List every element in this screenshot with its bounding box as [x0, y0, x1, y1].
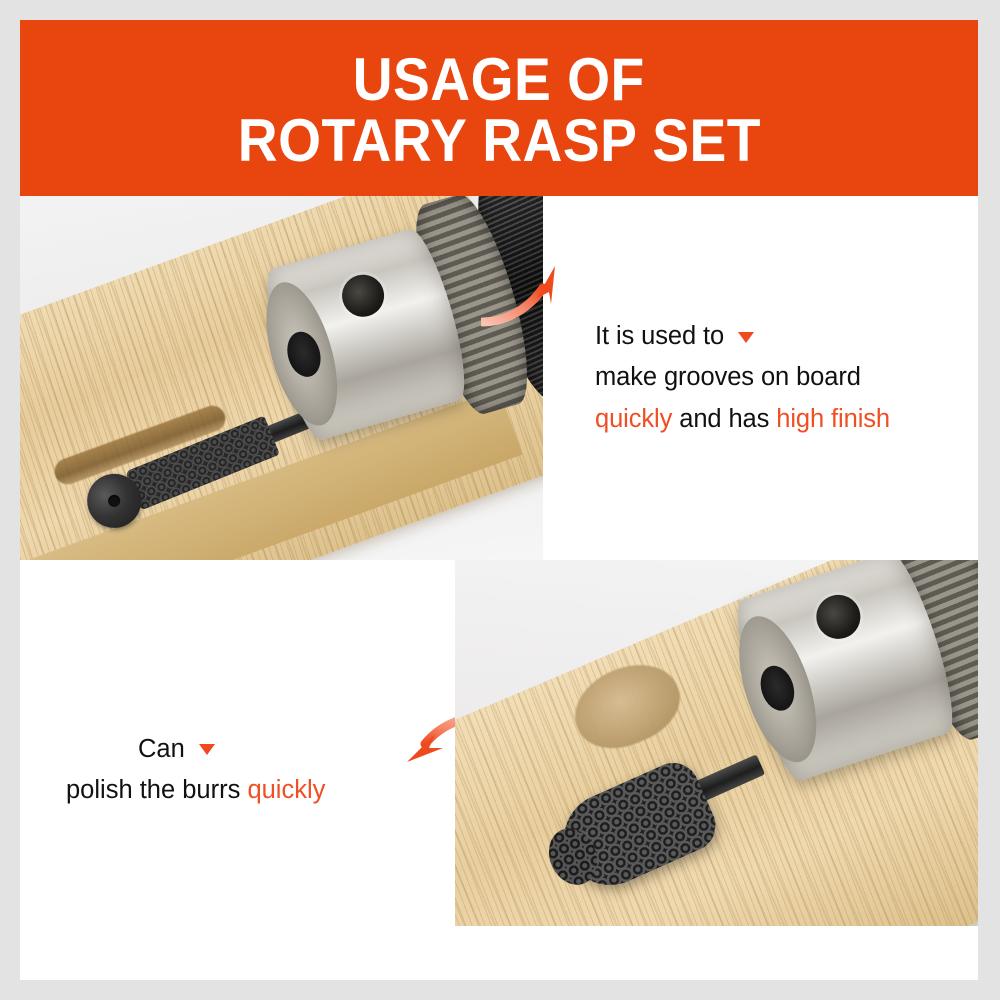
title-line-2: ROTARY RASP SET — [237, 110, 760, 171]
top-callout-line-3: quickly and has high finish — [595, 399, 978, 440]
bottom-callout: Can polish the burrs quickly — [20, 560, 455, 980]
bottom-highlight-quickly: quickly — [247, 776, 325, 804]
top-callout-line-1-text: It is used to — [595, 322, 724, 350]
top-highlight-high-finish: high finish — [776, 405, 890, 433]
bottom-callout-line-1-text: Can — [138, 735, 185, 763]
bottom-photo — [455, 560, 978, 980]
top-callout-line-2: make grooves on board — [595, 357, 978, 398]
infographic-page: USAGE OF ROTARY RASP SET — [0, 0, 1000, 1000]
top-highlight-quickly: quickly — [595, 405, 672, 433]
top-section: It is used to make grooves on board quic… — [20, 196, 978, 560]
bottom-callout-line-1: Can — [66, 729, 455, 770]
triangle-down-icon — [738, 332, 754, 343]
bottom-callout-line-2: polish the burrs quickly — [66, 770, 455, 811]
header-banner: USAGE OF ROTARY RASP SET — [20, 20, 978, 196]
top-photo — [20, 196, 543, 560]
top-callout-line-1: It is used to — [595, 316, 978, 357]
content-board: It is used to make grooves on board quic… — [20, 196, 978, 980]
top-callout: It is used to make grooves on board quic… — [543, 196, 978, 560]
bottom-white-strip — [455, 926, 978, 980]
title-line-1: USAGE OF — [353, 49, 645, 110]
triangle-down-icon — [199, 744, 215, 755]
top-callout-conjunction: and has — [672, 405, 776, 433]
bottom-callout-text: polish the burrs — [66, 776, 247, 804]
bottom-section: Can polish the burrs quickly — [20, 560, 978, 980]
